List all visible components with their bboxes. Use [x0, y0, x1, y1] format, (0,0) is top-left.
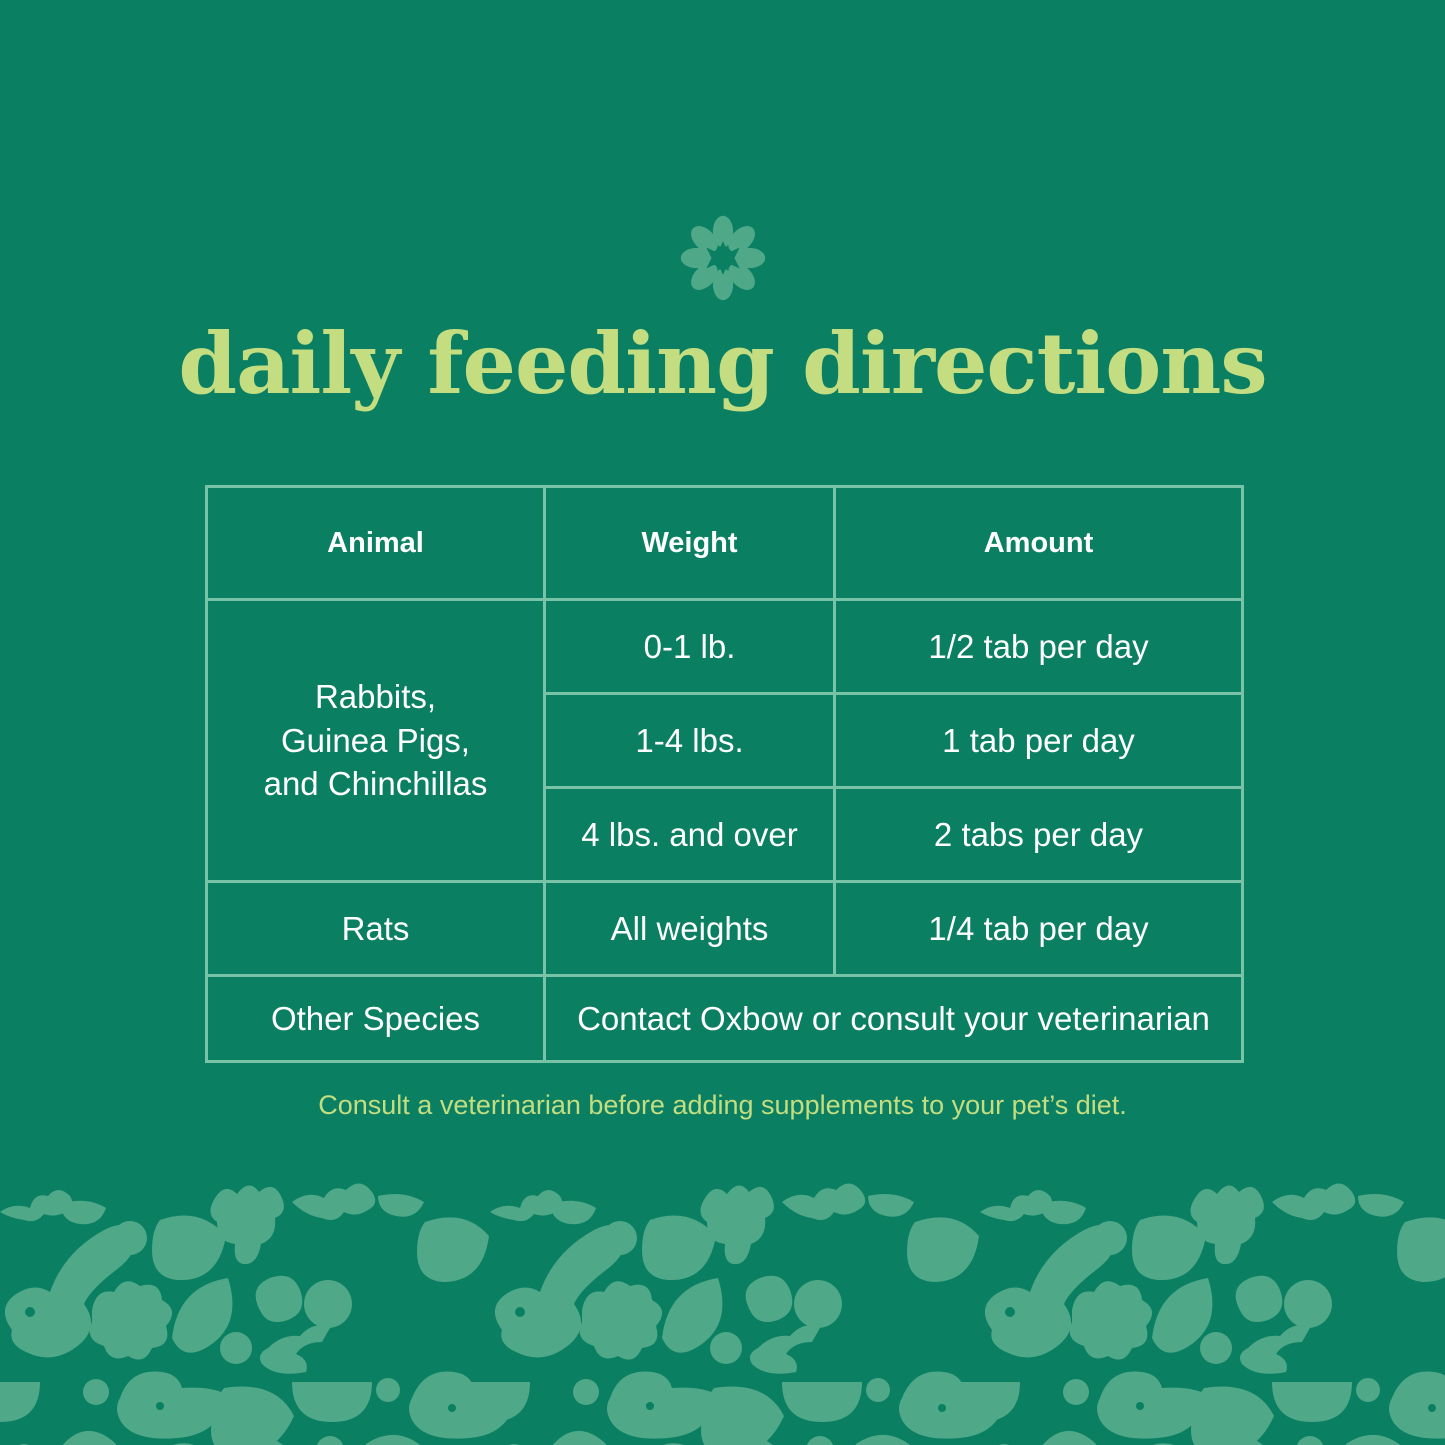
cell-weight: All weights — [545, 882, 835, 976]
botanical-animal-pattern — [0, 1170, 1445, 1445]
animal-line: Rabbits, — [208, 675, 543, 719]
cell-merged-note: Contact Oxbow or consult your veterinari… — [545, 976, 1243, 1062]
cell-weight: 0-1 lb. — [545, 600, 835, 694]
feeding-directions-table: Animal Weight Amount Rabbits, Guinea Pig… — [205, 485, 1244, 1063]
disclaimer-note: Consult a veterinarian before adding sup… — [0, 1090, 1445, 1121]
cell-animal: Other Species — [207, 976, 545, 1062]
cell-amount: 1 tab per day — [835, 694, 1243, 788]
cell-weight: 1-4 lbs. — [545, 694, 835, 788]
cell-weight: 4 lbs. and over — [545, 788, 835, 882]
table-row: Other Species Contact Oxbow or consult y… — [207, 976, 1243, 1062]
page-title: daily feeding directions — [0, 322, 1445, 406]
column-header-amount: Amount — [835, 487, 1243, 600]
kicker-text: NATURAL SCIENCE MULTI-VITAMIN — [280, 88, 1166, 92]
column-header-weight: Weight — [545, 487, 835, 600]
cell-animal-group: Rabbits, Guinea Pigs, and Chinchillas — [207, 600, 545, 882]
cell-animal: Rats — [207, 882, 545, 976]
rosette-flower-icon — [679, 214, 767, 302]
cell-amount: 1/2 tab per day — [835, 600, 1243, 694]
table-row: Rabbits, Guinea Pigs, and Chinchillas 0-… — [207, 600, 1243, 694]
cell-amount: 1/4 tab per day — [835, 882, 1243, 976]
column-header-animal: Animal — [207, 487, 545, 600]
cell-amount: 2 tabs per day — [835, 788, 1243, 882]
animal-line: Guinea Pigs, — [208, 719, 543, 763]
table-header-row: Animal Weight Amount — [207, 487, 1243, 600]
animal-line: and Chinchillas — [208, 762, 543, 806]
table-row: Rats All weights 1/4 tab per day — [207, 882, 1243, 976]
